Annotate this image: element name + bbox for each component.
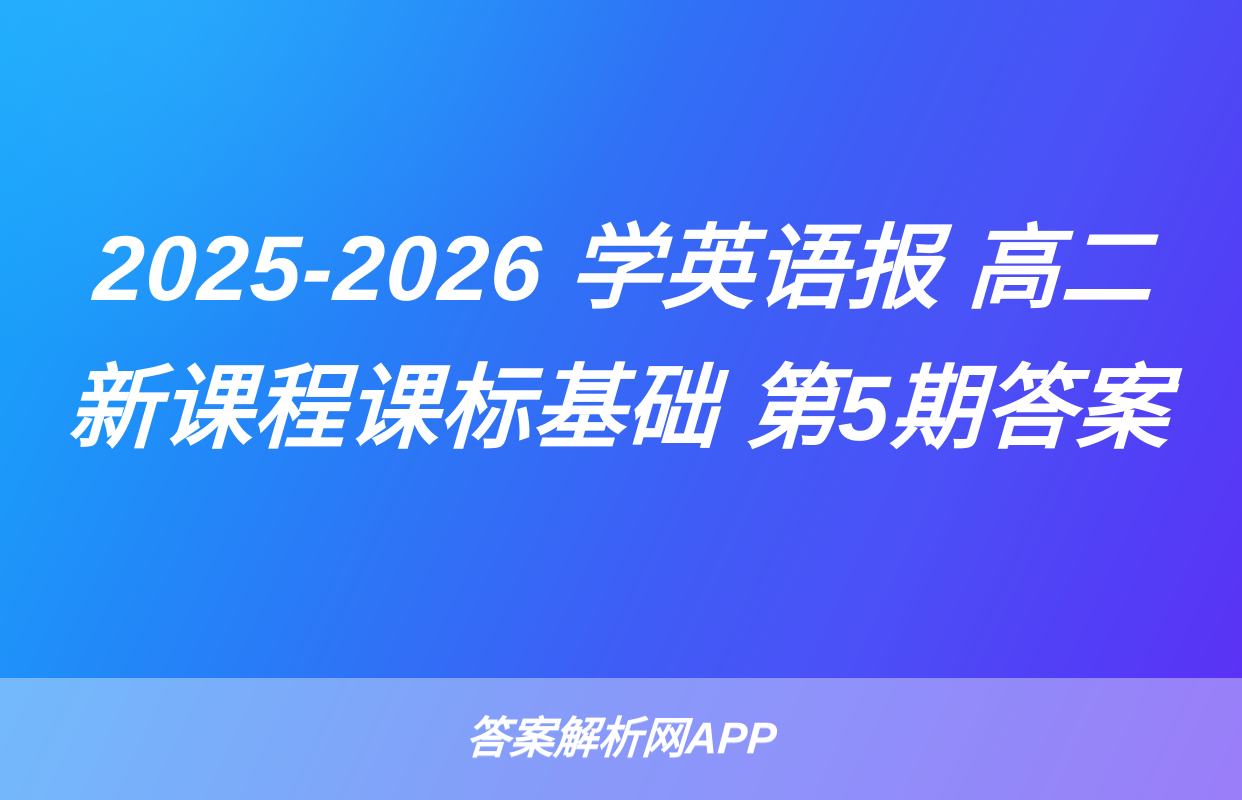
title-container: 2025-2026 学英语报 高二 新课程课标基础 第5期答案 bbox=[0, 0, 1242, 678]
footer-band: 答案解析网APP bbox=[0, 678, 1242, 800]
page-title: 2025-2026 学英语报 高二 新课程课标基础 第5期答案 bbox=[53, 199, 1189, 479]
answer-card: 2025-2026 学英语报 高二 新课程课标基础 第5期答案 答案解析网APP bbox=[0, 0, 1242, 800]
app-brand-label: 答案解析网APP bbox=[464, 717, 778, 761]
